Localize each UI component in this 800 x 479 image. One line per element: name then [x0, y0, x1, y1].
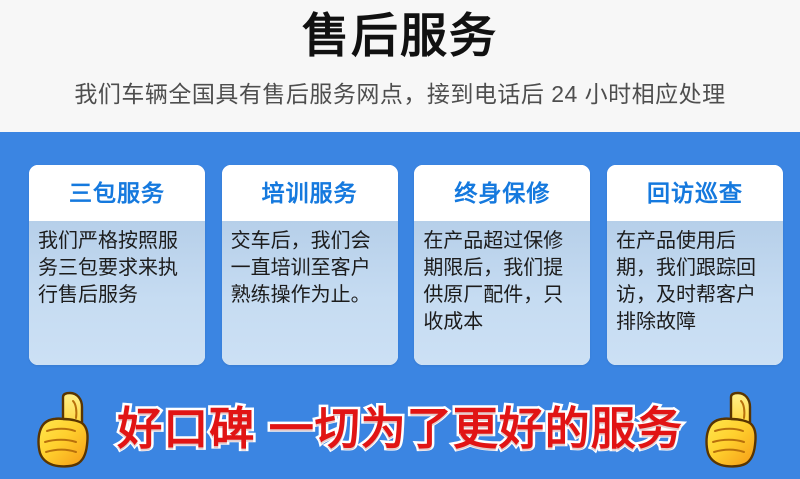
after-sales-service-banner: 售后服务 我们车辆全国具有售后服务网点，接到电话后 24 小时相应处理 三包服务…: [0, 0, 800, 479]
thumbs-up-icon: [695, 389, 773, 469]
service-card-text: 我们严格按照服务三包要求来执行售后服务: [38, 228, 196, 309]
service-card-title-area: 培训服务: [222, 165, 398, 221]
page-subtitle: 我们车辆全国具有售后服务网点，接到电话后 24 小时相应处理: [0, 67, 800, 111]
service-card-training[interactable]: 培训服务 交车后，我们会一直培训至客户熟练操作为止。: [222, 165, 398, 365]
service-card-title: 培训服务: [262, 180, 358, 206]
service-card-title-area: 终身保修: [414, 165, 590, 221]
service-card-body: 在产品使用后期，我们跟踪回访，及时帮客户排除故障: [607, 221, 783, 365]
slogan-banner-inner: 好口碑 一切为了更好的服务: [27, 389, 773, 469]
service-card-text: 在产品使用后期，我们跟踪回访，及时帮客户排除故障: [616, 228, 774, 336]
service-card-body: 交车后，我们会一直培训至客户熟练操作为止。: [222, 221, 398, 365]
service-card-title-area: 回访巡查: [607, 165, 783, 221]
service-card-body: 我们严格按照服务三包要求来执行售后服务: [29, 221, 205, 365]
blue-panel: 三包服务 我们严格按照服务三包要求来执行售后服务 培训服务 交车后，我们会一直培…: [0, 132, 800, 479]
service-card-text: 在产品超过保修期限后，我们提供原厂配件，只收成本: [423, 228, 581, 336]
service-card-title: 三包服务: [69, 180, 165, 206]
service-cards-row: 三包服务 我们严格按照服务三包要求来执行售后服务 培训服务 交车后，我们会一直培…: [29, 165, 783, 365]
service-card-follow-up-visit[interactable]: 回访巡查 在产品使用后期，我们跟踪回访，及时帮客户排除故障: [607, 165, 783, 365]
slogan-banner: 好口碑 一切为了更好的服务: [0, 379, 800, 479]
service-card-title: 终身保修: [454, 180, 550, 206]
slogan-text: 好口碑 一切为了更好的服务: [117, 401, 683, 457]
service-card-san-bao[interactable]: 三包服务 我们严格按照服务三包要求来执行售后服务: [29, 165, 205, 365]
service-card-lifetime-warranty[interactable]: 终身保修 在产品超过保修期限后，我们提供原厂配件，只收成本: [414, 165, 590, 365]
service-card-title-area: 三包服务: [29, 165, 205, 221]
service-card-title: 回访巡查: [647, 180, 743, 206]
service-card-body: 在产品超过保修期限后，我们提供原厂配件，只收成本: [414, 221, 590, 365]
page-title: 售后服务: [0, 5, 800, 67]
thumbs-up-icon: [27, 389, 105, 469]
service-card-text: 交车后，我们会一直培训至客户熟练操作为止。: [231, 228, 389, 309]
header: 售后服务 我们车辆全国具有售后服务网点，接到电话后 24 小时相应处理: [0, 0, 800, 132]
